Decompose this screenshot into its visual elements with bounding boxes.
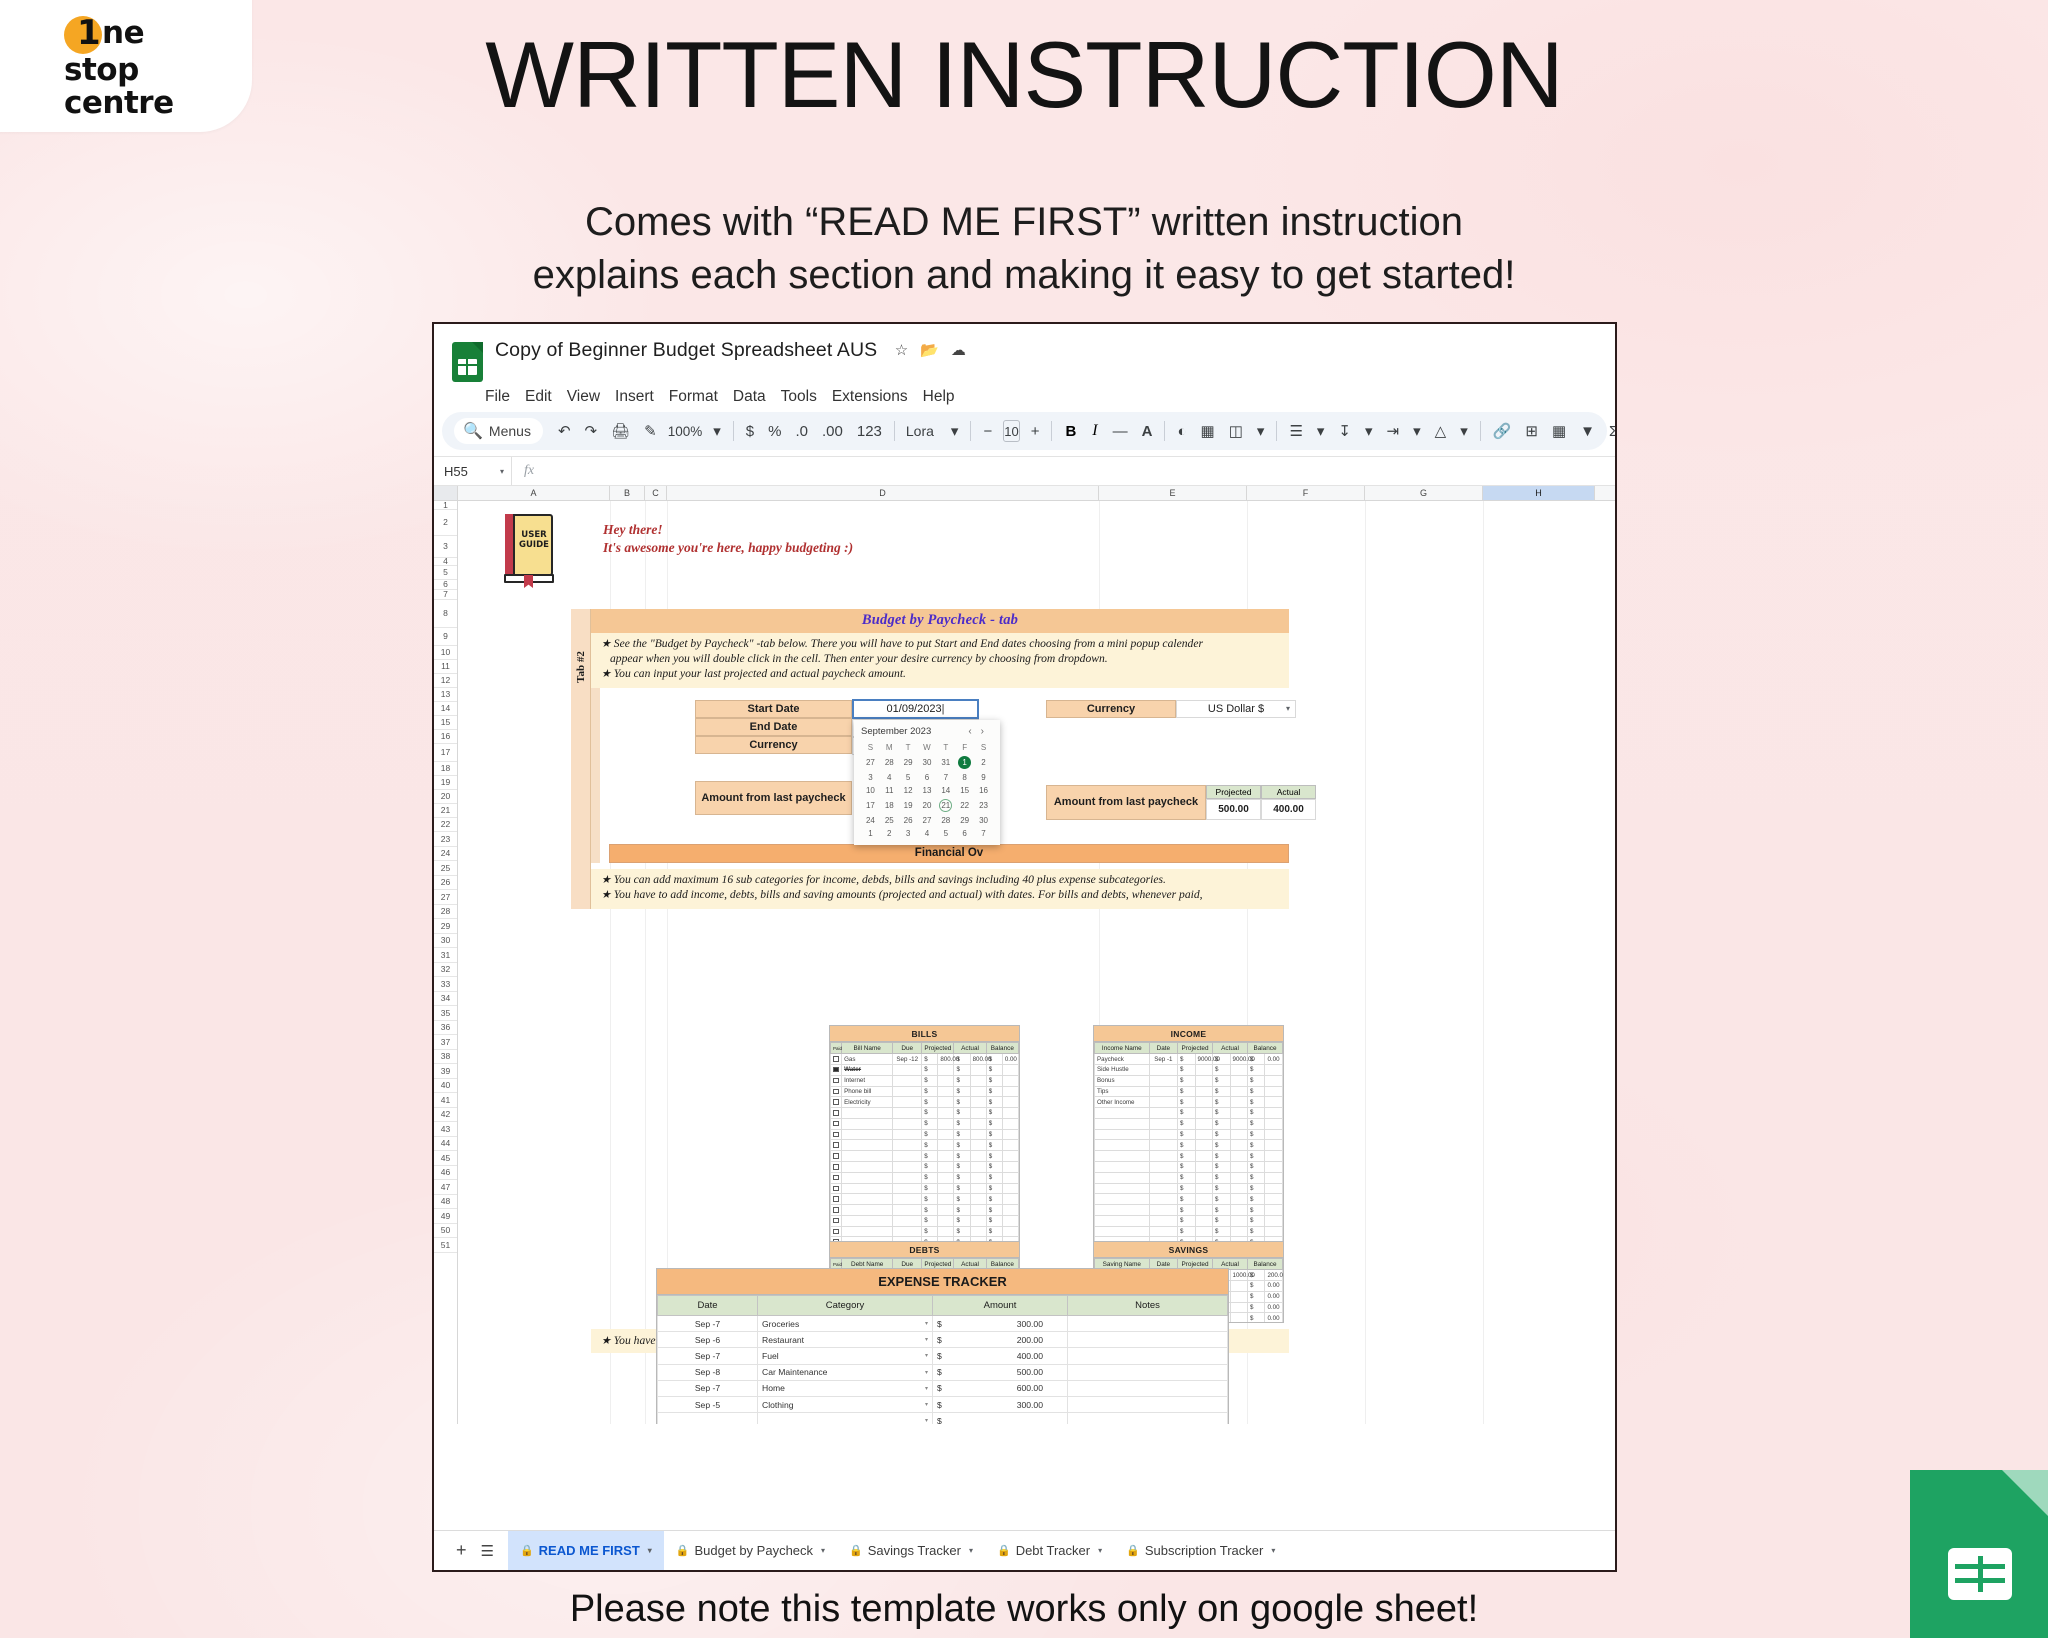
print-icon[interactable]: 🖨	[604, 422, 637, 440]
row-date[interactable]	[1149, 1151, 1177, 1162]
expense-notes[interactable]	[1068, 1364, 1228, 1380]
table-row[interactable]: Side Hustle$$$	[1095, 1064, 1283, 1075]
calendar-day[interactable]: 1	[861, 827, 880, 840]
row-header-18[interactable]: 18	[434, 762, 457, 776]
row-header-15[interactable]: 15	[434, 716, 457, 730]
calendar-day[interactable]: 6	[955, 827, 974, 840]
row-header-43[interactable]: 43	[434, 1122, 457, 1137]
calendar-day[interactable]: 27	[861, 754, 880, 771]
paid-checkbox-cell[interactable]	[831, 1108, 842, 1119]
sheet-tab-debt-tracker[interactable]: 🔒Debt Tracker▾	[985, 1531, 1114, 1571]
chevron-down-icon[interactable]: ▾	[925, 1352, 928, 1359]
row-date[interactable]	[893, 1151, 922, 1162]
date-picker-calendar[interactable]: September 2023 ‹› SMTWTFS272829303112345…	[854, 720, 1000, 845]
table-row[interactable]: Sep -8Car Maintenance▾$500.00	[658, 1364, 1228, 1380]
row-date[interactable]	[1149, 1129, 1177, 1140]
calendar-day[interactable]: 22	[955, 797, 974, 814]
row-header-27[interactable]: 27	[434, 890, 457, 905]
row-header-7[interactable]: 7	[434, 590, 457, 600]
paid-checkbox[interactable]	[833, 1142, 839, 1148]
row-name[interactable]	[1095, 1162, 1150, 1173]
expense-amount[interactable]: $500.00	[933, 1364, 1068, 1380]
row-name[interactable]: Phone bill	[842, 1086, 893, 1097]
calendar-day[interactable]: 3	[899, 827, 918, 840]
row-header-48[interactable]: 48	[434, 1195, 457, 1210]
table-row[interactable]: $$$	[831, 1215, 1019, 1226]
expense-amount[interactable]: $200.00	[933, 1332, 1068, 1348]
table-row[interactable]: $$$	[1095, 1215, 1283, 1226]
column-header-g[interactable]: G	[1365, 486, 1483, 500]
cloud-icon[interactable]: ☁	[951, 341, 966, 359]
chevron-down-icon[interactable]: ▾	[648, 1546, 652, 1555]
menu-item-tools[interactable]: Tools	[781, 388, 817, 406]
row-header-35[interactable]: 35	[434, 1006, 457, 1021]
table-row[interactable]: Internet$$$	[831, 1075, 1019, 1086]
row-name[interactable]	[842, 1140, 893, 1151]
row-header-32[interactable]: 32	[434, 963, 457, 978]
menu-item-file[interactable]: File	[485, 388, 510, 406]
paid-checkbox-cell[interactable]	[831, 1054, 842, 1065]
row-actual[interactable]	[970, 1097, 986, 1108]
row-name[interactable]: Tips	[1095, 1086, 1150, 1097]
row-projected[interactable]	[938, 1064, 954, 1075]
row-date[interactable]	[893, 1162, 922, 1173]
paid-checkbox-cell[interactable]	[831, 1183, 842, 1194]
increase-decimal-icon[interactable]: .00	[815, 423, 850, 440]
row-actual[interactable]	[1230, 1291, 1247, 1302]
undo-icon[interactable]: ↶	[551, 422, 578, 440]
row-name[interactable]	[1095, 1172, 1150, 1183]
paid-checkbox[interactable]	[833, 1186, 839, 1192]
table-row[interactable]: Tips$$$	[1095, 1086, 1283, 1097]
table-row[interactable]: $$$	[831, 1129, 1019, 1140]
row-header-11[interactable]: 11	[434, 660, 457, 674]
table-row[interactable]: Sep -5Clothing▾$300.00	[658, 1396, 1228, 1412]
name-box[interactable]: H55 ▾	[434, 457, 512, 485]
calendar-day[interactable]: 29	[955, 814, 974, 827]
paid-checkbox-cell[interactable]	[831, 1075, 842, 1086]
row-name[interactable]	[842, 1172, 893, 1183]
row-name[interactable]	[842, 1194, 893, 1205]
calendar-day-selected[interactable]: 1	[955, 754, 974, 771]
table-row[interactable]: ▾$	[658, 1413, 1228, 1424]
expense-date[interactable]: Sep -8	[658, 1364, 758, 1380]
table-row[interactable]: $$$	[831, 1162, 1019, 1173]
expense-amount[interactable]: $400.00	[933, 1348, 1068, 1364]
row-balance[interactable]	[1002, 1075, 1018, 1086]
paid-checkbox[interactable]	[833, 1153, 839, 1159]
row-date[interactable]: Sep -1	[1149, 1054, 1177, 1065]
row-balance[interactable]	[1002, 1097, 1018, 1108]
row-header-39[interactable]: 39	[434, 1064, 457, 1079]
row-date[interactable]: Sep -12	[893, 1054, 922, 1065]
row-name[interactable]	[1095, 1140, 1150, 1151]
expense-notes[interactable]	[1068, 1332, 1228, 1348]
calendar-day[interactable]: 8	[955, 771, 974, 784]
all-sheets-menu-icon[interactable]: ☰	[479, 1542, 508, 1560]
row-balance[interactable]	[1265, 1075, 1283, 1086]
row-header-19[interactable]: 19	[434, 776, 457, 790]
merge-chevron-down-icon[interactable]: ▾	[1250, 422, 1272, 440]
row-name[interactable]: Bonus	[1095, 1075, 1150, 1086]
insert-chart-icon[interactable]: ▦	[1545, 422, 1573, 440]
row-date[interactable]	[1149, 1172, 1177, 1183]
row-header-40[interactable]: 40	[434, 1079, 457, 1094]
row-actual[interactable]: 800.00	[970, 1054, 986, 1065]
row-date[interactable]	[893, 1205, 922, 1216]
paid-checkbox-cell[interactable]	[831, 1086, 842, 1097]
paid-checkbox[interactable]	[833, 1067, 839, 1073]
row-header-30[interactable]: 30	[434, 934, 457, 949]
table-row[interactable]: GasSep -12$800.00$800.00$0.00	[831, 1054, 1019, 1065]
strikethrough-icon[interactable]: —	[1106, 423, 1135, 440]
row-date[interactable]	[893, 1172, 922, 1183]
row-date[interactable]	[1149, 1118, 1177, 1129]
calendar-day[interactable]: 5	[899, 771, 918, 784]
row-actual[interactable]	[1230, 1280, 1247, 1291]
row-actual[interactable]: 1000.00	[1230, 1270, 1247, 1281]
row-projected[interactable]	[1195, 1086, 1212, 1097]
paid-checkbox[interactable]	[833, 1207, 839, 1213]
expense-category[interactable]: Home▾	[758, 1380, 933, 1396]
row-name[interactable]	[1095, 1194, 1150, 1205]
chevron-down-icon[interactable]: ▾	[925, 1401, 928, 1408]
row-projected[interactable]	[938, 1086, 954, 1097]
paid-checkbox[interactable]	[833, 1099, 839, 1105]
calendar-day[interactable]: 13	[918, 784, 937, 797]
row-header-33[interactable]: 33	[434, 977, 457, 992]
row-header-38[interactable]: 38	[434, 1050, 457, 1065]
calendar-day[interactable]: 11	[880, 784, 899, 797]
expense-date[interactable]: Sep -7	[658, 1380, 758, 1396]
row-actual[interactable]	[970, 1086, 986, 1097]
row-header-45[interactable]: 45	[434, 1151, 457, 1166]
sheet-tab-read-me-first[interactable]: 🔒READ ME FIRST▾	[508, 1531, 664, 1571]
expense-category[interactable]: Clothing▾	[758, 1396, 933, 1412]
row-header-50[interactable]: 50	[434, 1224, 457, 1239]
borders-icon[interactable]: ▦	[1194, 422, 1222, 440]
row-header-17[interactable]: 17	[434, 744, 457, 762]
calendar-day[interactable]: 15	[955, 784, 974, 797]
column-header-d[interactable]: D	[667, 486, 1099, 500]
calendar-day[interactable]: 30	[918, 754, 937, 771]
row-date[interactable]	[893, 1129, 922, 1140]
row-actual[interactable]	[1230, 1086, 1247, 1097]
paid-checkbox-cell[interactable]	[831, 1097, 842, 1108]
paid-checkbox-cell[interactable]	[831, 1064, 842, 1075]
expense-category[interactable]: Car Maintenance▾	[758, 1364, 933, 1380]
horizontal-align-icon[interactable]: ☰	[1282, 422, 1309, 440]
row-balance[interactable]	[1265, 1097, 1283, 1108]
expense-notes[interactable]	[1068, 1316, 1228, 1332]
paid-checkbox[interactable]	[833, 1110, 839, 1116]
row-balance[interactable]: 0.00	[1265, 1302, 1283, 1313]
table-row[interactable]: Sep -7Fuel▾$400.00	[658, 1348, 1228, 1364]
row-name[interactable]	[842, 1215, 893, 1226]
row-date[interactable]	[893, 1215, 922, 1226]
increase-font-size-icon[interactable]: +	[1024, 423, 1047, 440]
calendar-day[interactable]: 4	[918, 827, 937, 840]
row-header-44[interactable]: 44	[434, 1137, 457, 1152]
chevron-down-icon[interactable]: ▾	[925, 1417, 928, 1424]
row-date[interactable]	[1149, 1086, 1177, 1097]
row-date[interactable]	[1149, 1097, 1177, 1108]
row-actual[interactable]	[1230, 1302, 1247, 1313]
row-name[interactable]	[1095, 1118, 1150, 1129]
row-balance[interactable]: 0.00	[1265, 1054, 1283, 1065]
calendar-day-today[interactable]: 21	[936, 797, 955, 814]
column-header-f[interactable]: F	[1247, 486, 1365, 500]
paid-checkbox[interactable]	[833, 1056, 839, 1062]
paid-checkbox-cell[interactable]	[831, 1172, 842, 1183]
row-header-41[interactable]: 41	[434, 1093, 457, 1108]
paid-checkbox-cell[interactable]	[831, 1162, 842, 1173]
chevron-down-icon[interactable]: ▾	[969, 1546, 973, 1555]
zoom-chevron-down-icon[interactable]: ▾	[706, 422, 728, 440]
row-header-37[interactable]: 37	[434, 1035, 457, 1050]
name-box-chevron-down-icon[interactable]: ▾	[500, 467, 504, 476]
fill-color-icon[interactable]: ◐	[1170, 423, 1193, 440]
row-header-14[interactable]: 14	[434, 702, 457, 716]
functions-icon[interactable]: Σ	[1602, 423, 1617, 440]
menu-item-insert[interactable]: Insert	[615, 388, 654, 406]
chevron-down-icon[interactable]: ▾	[1271, 1546, 1275, 1555]
menu-item-help[interactable]: Help	[923, 388, 955, 406]
row-name[interactable]: Internet	[842, 1075, 893, 1086]
sheet-tab-savings-tracker[interactable]: 🔒Savings Tracker▾	[837, 1531, 985, 1571]
merge-cells-icon[interactable]: ◫	[1222, 422, 1250, 440]
row-name[interactable]	[1095, 1215, 1150, 1226]
chevron-down-icon[interactable]: ▾	[925, 1385, 928, 1392]
paid-checkbox[interactable]	[833, 1078, 839, 1084]
row-date[interactable]	[893, 1108, 922, 1119]
decrease-font-size-icon[interactable]: −	[976, 423, 999, 440]
insert-link-icon[interactable]: 🔗	[1486, 422, 1519, 440]
expense-category[interactable]: Fuel▾	[758, 1348, 933, 1364]
menu-item-format[interactable]: Format	[669, 388, 718, 406]
chevron-down-icon[interactable]: ▾	[925, 1336, 928, 1343]
expense-date[interactable]	[658, 1413, 758, 1424]
calendar-day[interactable]: 28	[880, 754, 899, 771]
row-date[interactable]	[1149, 1226, 1177, 1237]
halign-chevron-down-icon[interactable]: ▾	[1310, 422, 1332, 440]
document-title[interactable]: Copy of Beginner Budget Spreadsheet AUS	[495, 339, 877, 361]
expense-amount[interactable]: $300.00	[933, 1316, 1068, 1332]
menu-item-view[interactable]: View	[567, 388, 600, 406]
row-header-25[interactable]: 25	[434, 861, 457, 876]
menu-item-edit[interactable]: Edit	[525, 388, 552, 406]
calendar-day[interactable]: 20	[918, 797, 937, 814]
expense-date[interactable]: Sep -7	[658, 1316, 758, 1332]
row-name[interactable]	[842, 1226, 893, 1237]
row-header-36[interactable]: 36	[434, 1021, 457, 1036]
vertical-align-icon[interactable]: ↧	[1331, 422, 1358, 440]
row-actual[interactable]: 9000.00	[1230, 1054, 1247, 1065]
calendar-day[interactable]: 9	[974, 771, 993, 784]
row-projected[interactable]: 800.00	[938, 1054, 954, 1065]
row-actual[interactable]	[970, 1064, 986, 1075]
text-wrapping-icon[interactable]: ⇥	[1380, 422, 1407, 440]
calendar-day[interactable]: 25	[880, 814, 899, 827]
row-projected[interactable]: 9000.00	[1195, 1054, 1212, 1065]
row-header-42[interactable]: 42	[434, 1108, 457, 1123]
expense-amount[interactable]: $600.00	[933, 1380, 1068, 1396]
row-balance[interactable]	[1002, 1086, 1018, 1097]
row-name[interactable]	[842, 1183, 893, 1194]
table-row[interactable]: $$$	[831, 1151, 1019, 1162]
filter-icon[interactable]: ▼	[1573, 423, 1602, 440]
table-row[interactable]: $$$	[831, 1183, 1019, 1194]
row-name[interactable]	[842, 1129, 893, 1140]
row-name[interactable]	[1095, 1226, 1150, 1237]
row-projected[interactable]	[1195, 1097, 1212, 1108]
calendar-day[interactable]: 31	[936, 754, 955, 771]
table-row[interactable]: $$$	[1095, 1118, 1283, 1129]
row-header-29[interactable]: 29	[434, 919, 457, 934]
row-name[interactable]	[1095, 1151, 1150, 1162]
sheet-tab-budget-by-paycheck[interactable]: 🔒Budget by Paycheck▾	[664, 1531, 837, 1571]
row-name[interactable]	[1095, 1108, 1150, 1119]
row-balance[interactable]	[1002, 1064, 1018, 1075]
calendar-day[interactable]: 2	[974, 754, 993, 771]
calendar-day[interactable]: 26	[899, 814, 918, 827]
calendar-day[interactable]: 7	[974, 827, 993, 840]
calendar-day[interactable]: 23	[974, 797, 993, 814]
calendar-prev-icon[interactable]: ‹	[968, 726, 980, 737]
more-formats-icon[interactable]: 123	[850, 423, 889, 440]
expense-date[interactable]: Sep -6	[658, 1332, 758, 1348]
text-rotation-icon[interactable]: △	[1428, 422, 1454, 440]
row-balance[interactable]: 0.00	[1265, 1291, 1283, 1302]
row-balance[interactable]: 200.00	[1265, 1270, 1283, 1281]
row-projected[interactable]	[1195, 1075, 1212, 1086]
chevron-down-icon[interactable]: ▾	[821, 1546, 825, 1555]
paid-checkbox[interactable]	[833, 1164, 839, 1170]
row-header-5[interactable]: 5	[434, 566, 457, 580]
row-header-21[interactable]: 21	[434, 804, 457, 818]
row-date[interactable]	[893, 1064, 922, 1075]
row-balance[interactable]: 0.00	[1002, 1054, 1018, 1065]
calendar-day[interactable]: 6	[918, 771, 937, 784]
calendar-day[interactable]: 2	[880, 827, 899, 840]
column-header-e[interactable]: E	[1099, 486, 1247, 500]
add-sheet-button[interactable]: +	[444, 1540, 479, 1561]
table-row[interactable]: $$$	[1095, 1226, 1283, 1237]
row-header-49[interactable]: 49	[434, 1209, 457, 1224]
paid-checkbox[interactable]	[833, 1218, 839, 1224]
paid-checkbox[interactable]	[833, 1132, 839, 1138]
expense-category[interactable]: Restaurant▾	[758, 1332, 933, 1348]
row-header-46[interactable]: 46	[434, 1166, 457, 1181]
row-name[interactable]: Paycheck	[1095, 1054, 1150, 1065]
row-date[interactable]	[893, 1086, 922, 1097]
row-balance[interactable]	[1265, 1064, 1283, 1075]
column-header-b[interactable]: B	[610, 486, 645, 500]
row-header-9[interactable]: 9	[434, 628, 457, 646]
select-all-corner[interactable]	[434, 486, 457, 501]
column-header-a[interactable]: A	[458, 486, 610, 500]
table-row[interactable]: $$$	[831, 1194, 1019, 1205]
table-row[interactable]: Bonus$$$	[1095, 1075, 1283, 1086]
paid-checkbox-cell[interactable]	[831, 1205, 842, 1216]
row-name[interactable]	[842, 1162, 893, 1173]
calendar-day[interactable]: 3	[861, 771, 880, 784]
grid-canvas[interactable]: USER GUIDE Hey there! It's awesome you'r…	[458, 501, 1615, 1424]
row-header-23[interactable]: 23	[434, 832, 457, 847]
paid-checkbox-cell[interactable]	[831, 1226, 842, 1237]
row-date[interactable]	[1149, 1064, 1177, 1075]
actual-value[interactable]: 400.00	[1261, 799, 1316, 820]
font-chevron-down-icon[interactable]: ▾	[944, 422, 966, 440]
wrap-chevron-down-icon[interactable]: ▾	[1406, 422, 1428, 440]
table-row[interactable]: Other Income$$$	[1095, 1097, 1283, 1108]
row-name[interactable]	[1095, 1183, 1150, 1194]
calendar-day[interactable]: 7	[936, 771, 955, 784]
row-header-20[interactable]: 20	[434, 790, 457, 804]
row-actual[interactable]	[1230, 1075, 1247, 1086]
font-size-input[interactable]: 10	[1003, 420, 1019, 442]
row-balance[interactable]	[1265, 1086, 1283, 1097]
table-row[interactable]: $$$	[831, 1108, 1019, 1119]
expense-notes[interactable]	[1068, 1413, 1228, 1424]
paid-checkbox-cell[interactable]	[831, 1140, 842, 1151]
row-header-28[interactable]: 28	[434, 905, 457, 920]
row-projected[interactable]	[938, 1097, 954, 1108]
row-name[interactable]	[842, 1151, 893, 1162]
paid-checkbox-cell[interactable]	[831, 1215, 842, 1226]
expense-category[interactable]: ▾	[758, 1413, 933, 1424]
calendar-day[interactable]: 19	[899, 797, 918, 814]
row-actual[interactable]	[1230, 1064, 1247, 1075]
table-row[interactable]: Sep -6Restaurant▾$200.00	[658, 1332, 1228, 1348]
calendar-day[interactable]: 16	[974, 784, 993, 797]
row-name[interactable]: Other Income	[1095, 1097, 1150, 1108]
calendar-day[interactable]: 24	[861, 814, 880, 827]
chevron-down-icon[interactable]: ▾	[925, 1369, 928, 1376]
expense-notes[interactable]	[1068, 1348, 1228, 1364]
calendar-day[interactable]: 28	[936, 814, 955, 827]
calendar-day[interactable]: 29	[899, 754, 918, 771]
table-row[interactable]: $$$	[831, 1205, 1019, 1216]
row-date[interactable]	[1149, 1108, 1177, 1119]
row-name[interactable]	[1095, 1129, 1150, 1140]
row-header-47[interactable]: 47	[434, 1180, 457, 1195]
row-name[interactable]	[842, 1108, 893, 1119]
table-row[interactable]: $$$	[1095, 1108, 1283, 1119]
row-header-1[interactable]: 1	[434, 501, 457, 510]
row-name[interactable]	[1095, 1205, 1150, 1216]
row-date[interactable]	[1149, 1194, 1177, 1205]
paid-checkbox-cell[interactable]	[831, 1151, 842, 1162]
row-date[interactable]	[1149, 1140, 1177, 1151]
row-actual[interactable]	[1230, 1313, 1247, 1323]
row-projected[interactable]	[1195, 1064, 1212, 1075]
row-header-31[interactable]: 31	[434, 948, 457, 963]
row-header-22[interactable]: 22	[434, 818, 457, 832]
calendar-day[interactable]: 14	[936, 784, 955, 797]
table-row[interactable]: Water$$$	[831, 1064, 1019, 1075]
paint-format-icon[interactable]: ✎	[637, 422, 664, 440]
redo-icon[interactable]: ↷	[578, 422, 605, 440]
expense-date[interactable]: Sep -5	[658, 1396, 758, 1412]
row-balance[interactable]: 0.00	[1265, 1313, 1283, 1323]
column-header-h[interactable]: H	[1483, 486, 1595, 500]
insert-comment-icon[interactable]: ⊞	[1518, 422, 1545, 440]
table-row[interactable]: Sep -7Groceries▾$300.00	[658, 1316, 1228, 1332]
expense-amount[interactable]: $	[933, 1413, 1068, 1424]
expense-category[interactable]: Groceries▾	[758, 1316, 933, 1332]
table-row[interactable]: $$$	[831, 1226, 1019, 1237]
